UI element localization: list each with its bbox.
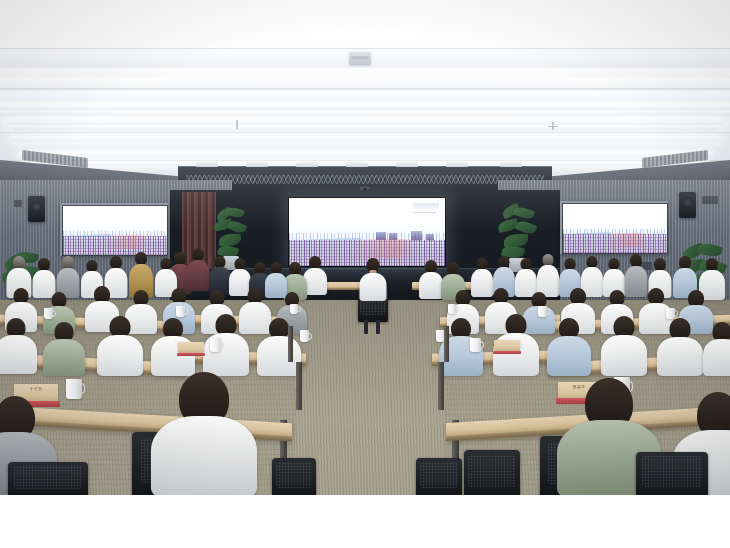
ceramic-mug — [470, 338, 481, 352]
attendee — [96, 316, 144, 376]
ceramic-mug — [210, 338, 221, 352]
table-leg — [444, 326, 449, 362]
wall-sign-right — [702, 196, 718, 204]
attendee — [546, 318, 592, 376]
name-placard — [178, 342, 204, 353]
front-row-attendee — [358, 258, 388, 300]
ceiling — [0, 0, 730, 182]
conference-room-photograph: 干子台 张某华 — [0, 0, 730, 495]
mesh-office-chair — [272, 458, 316, 495]
ceramic-mug — [290, 304, 298, 314]
side-led-screen-left — [60, 203, 168, 256]
attendee — [600, 316, 648, 376]
ceramic-mug — [448, 304, 456, 314]
attendee — [0, 318, 38, 374]
mesh-office-chair — [464, 450, 520, 495]
photo-page: 干子台 张某华 — [0, 0, 730, 548]
attendee — [702, 322, 730, 376]
wall-speaker-right — [679, 192, 696, 218]
ceramic-mug — [44, 308, 53, 319]
placard-text: 干子台 — [14, 387, 58, 391]
linear-light-strip — [0, 112, 730, 116]
linear-light-strip — [0, 92, 730, 101]
screen-watermark — [413, 203, 439, 210]
photo-bottom-border — [0, 495, 730, 548]
attendee — [656, 318, 704, 376]
linear-light-strip — [0, 104, 730, 110]
mesh-office-chair — [636, 452, 708, 495]
linear-light-strip — [18, 152, 712, 157]
wall-sign-left — [14, 200, 22, 207]
mesh-office-chair — [8, 462, 88, 495]
linear-light-strip — [14, 128, 716, 131]
name-placard — [494, 340, 520, 351]
table-leg — [288, 326, 293, 362]
foreground-attendee — [150, 372, 258, 495]
table-leg — [296, 362, 302, 410]
ceramic-mug — [300, 330, 309, 342]
mesh-office-chair — [416, 458, 462, 495]
truss-grid — [186, 175, 544, 184]
wall-speaker-left — [28, 196, 45, 222]
linear-light-strip — [6, 118, 724, 125]
ceramic-mug — [176, 306, 185, 317]
table-leg — [438, 362, 444, 410]
linear-light-strip — [10, 136, 720, 142]
attendee — [42, 322, 86, 376]
linear-light-strip — [22, 146, 708, 149]
side-led-screen-right — [560, 201, 668, 254]
ceiling-projector-box — [349, 52, 371, 65]
ceramic-mug — [66, 379, 82, 399]
far-attendee — [186, 248, 210, 292]
